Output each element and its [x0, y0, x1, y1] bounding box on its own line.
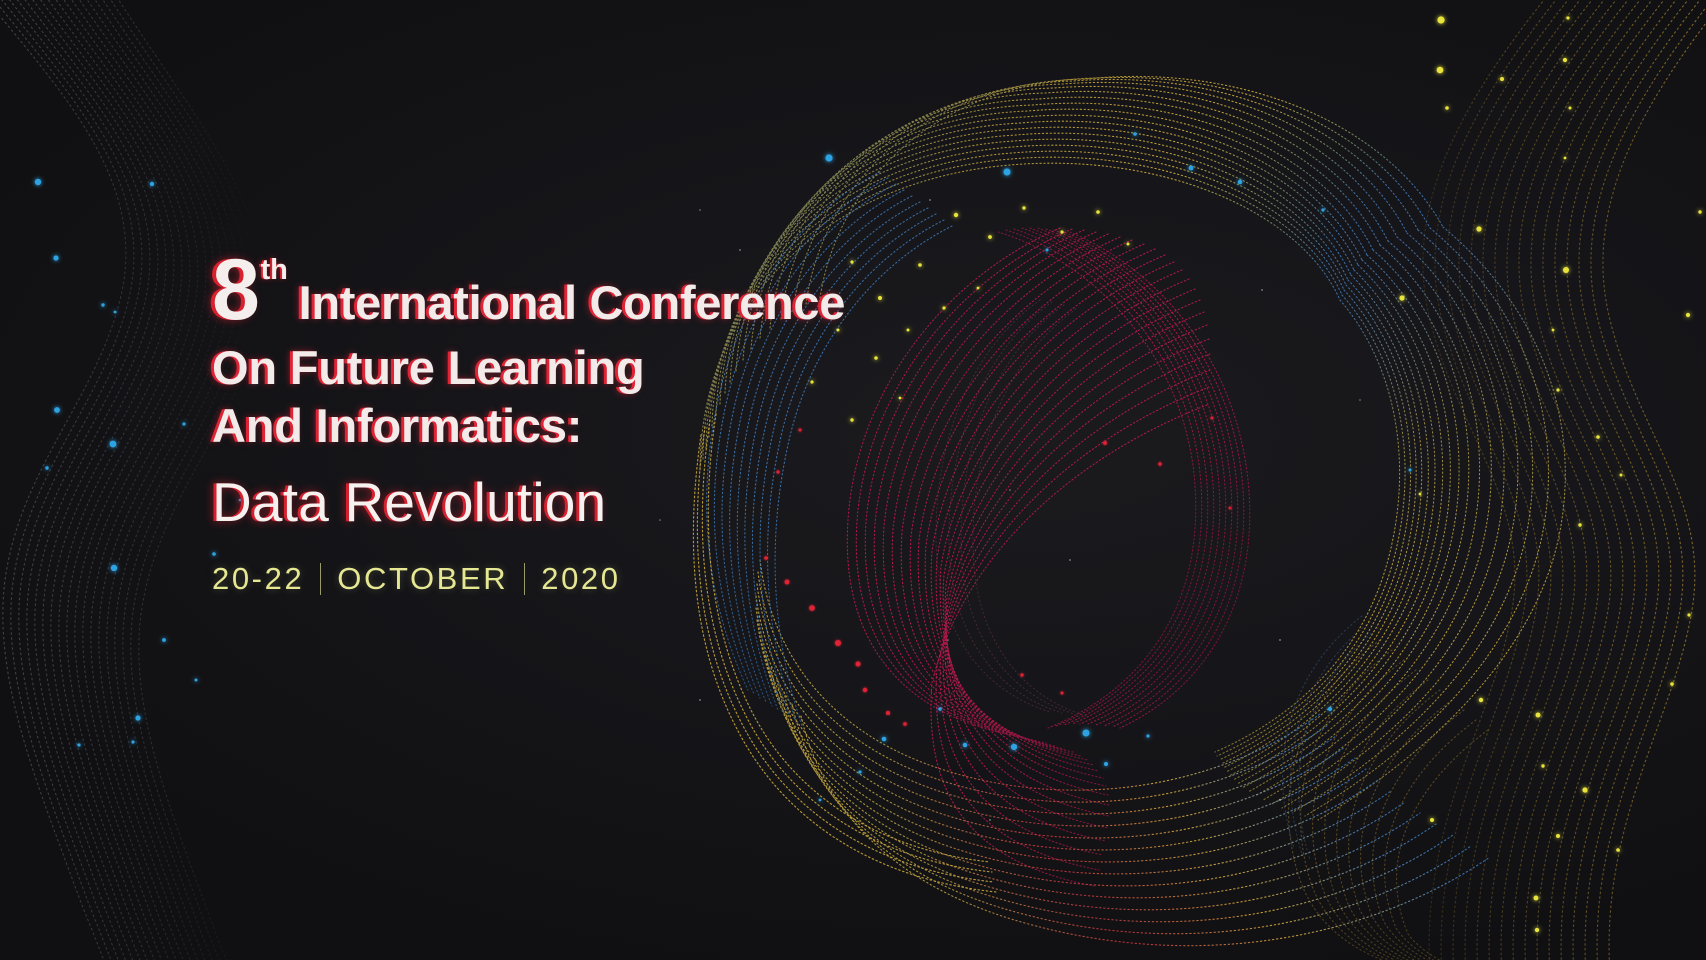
poster-subtitle: Data Revolution	[212, 471, 952, 533]
conference-poster: 8th International Conference On Future L…	[0, 0, 1706, 960]
ordinal-number-group: 8th	[212, 262, 287, 339]
event-month: OCTOBER	[337, 561, 508, 597]
event-year: 2020	[541, 561, 620, 597]
title-line-2: On Future Learning	[212, 339, 952, 397]
dateline-separator-2	[524, 563, 525, 595]
title-line-1: International Conference	[299, 276, 845, 329]
title-line-1-row: 8th International Conference	[212, 262, 952, 339]
title-line-3: And Informatics:	[212, 397, 952, 455]
dateline-separator-1	[320, 563, 321, 595]
ordinal-suffix: th	[261, 254, 288, 286]
poster-text-block: 8th International Conference On Future L…	[212, 262, 952, 597]
event-days: 20-22	[212, 561, 304, 597]
event-dateline: 20-22 OCTOBER 2020	[212, 561, 952, 597]
ordinal-number: 8	[212, 262, 260, 318]
